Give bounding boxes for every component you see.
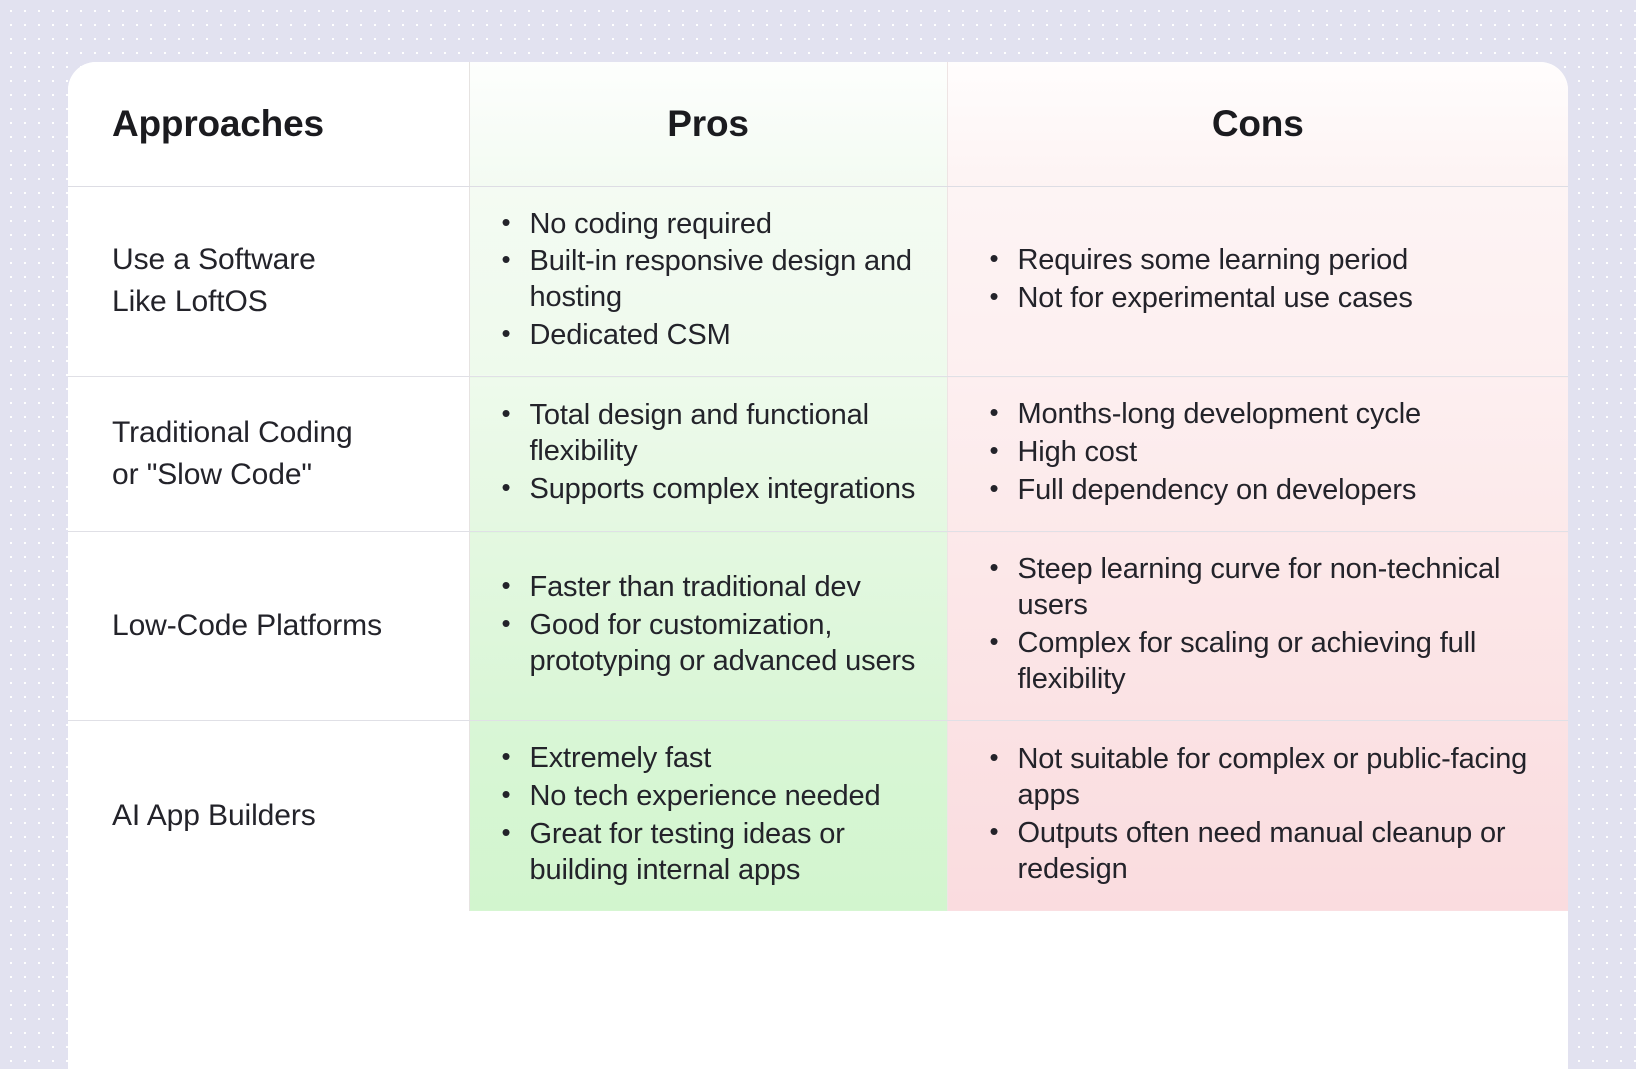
cons-cell: Steep learning curve for non-technical u… (947, 532, 1568, 721)
pros-cell: No coding required Built-in responsive d… (469, 186, 947, 377)
approach-line: Traditional Coding (112, 412, 449, 455)
table-row: Use a Software Like LoftOS No coding req… (68, 186, 1568, 377)
approach-line: Like LoftOS (112, 281, 449, 324)
table-row: Low-Code Platforms Faster than tradition… (68, 532, 1568, 721)
list-item: Outputs often need manual cleanup or red… (986, 816, 1545, 888)
pros-cell: Total design and functional flexibility … (469, 377, 947, 532)
list-item: Months-long development cycle (986, 397, 1545, 433)
comparison-card: Approaches Pros Cons Use a Software Like… (68, 62, 1568, 1069)
table-body: Use a Software Like LoftOS No coding req… (68, 186, 1568, 911)
pros-list: Extremely fast No tech experience needed… (498, 741, 923, 889)
approach-line: AI App Builders (112, 795, 449, 838)
column-header-approaches: Approaches (68, 62, 469, 186)
cons-cell: Requires some learning period Not for ex… (947, 186, 1568, 377)
list-item: Not suitable for complex or public-facin… (986, 742, 1545, 814)
cons-list: Steep learning curve for non-technical u… (986, 552, 1545, 698)
cons-list: Requires some learning period Not for ex… (986, 243, 1545, 317)
approach-cell: Traditional Coding or "Slow Code" (68, 377, 469, 532)
list-item: Supports complex integrations (498, 472, 923, 508)
table-row: AI App Builders Extremely fast No tech e… (68, 720, 1568, 910)
header-row: Approaches Pros Cons (68, 62, 1568, 186)
approach-cell: AI App Builders (68, 720, 469, 910)
pros-list: No coding required Built-in responsive d… (498, 207, 923, 355)
cons-cell: Months-long development cycle High cost … (947, 377, 1568, 532)
table-header: Approaches Pros Cons (68, 62, 1568, 186)
approach-line: or "Slow Code" (112, 454, 449, 497)
list-item: Faster than traditional dev (498, 570, 923, 606)
list-item: Steep learning curve for non-technical u… (986, 552, 1545, 624)
list-item: Complex for scaling or achieving full fl… (986, 626, 1545, 698)
table-row: Traditional Coding or "Slow Code" Total … (68, 377, 1568, 532)
comparison-table: Approaches Pros Cons Use a Software Like… (68, 62, 1568, 911)
list-item: No coding required (498, 207, 923, 243)
list-item: Total design and functional flexibility (498, 398, 923, 470)
list-item: Extremely fast (498, 741, 923, 777)
pros-list: Total design and functional flexibility … (498, 398, 923, 508)
list-item: Good for customization, prototyping or a… (498, 608, 923, 680)
pros-cell: Extremely fast No tech experience needed… (469, 720, 947, 910)
list-item: Not for experimental use cases (986, 281, 1545, 317)
approach-line: Low-Code Platforms (112, 605, 449, 648)
column-header-pros: Pros (469, 62, 947, 186)
pros-cell: Faster than traditional dev Good for cus… (469, 532, 947, 721)
list-item: Requires some learning period (986, 243, 1545, 279)
list-item: Great for testing ideas or building inte… (498, 817, 923, 889)
list-item: Dedicated CSM (498, 318, 923, 354)
cons-list: Not suitable for complex or public-facin… (986, 742, 1545, 888)
cons-cell: Not suitable for complex or public-facin… (947, 720, 1568, 910)
list-item: No tech experience needed (498, 779, 923, 815)
column-header-cons: Cons (947, 62, 1568, 186)
approach-cell: Use a Software Like LoftOS (68, 186, 469, 377)
list-item: Full dependency on developers (986, 473, 1545, 509)
list-item: Built-in responsive design and hosting (498, 244, 923, 316)
list-item: High cost (986, 435, 1545, 471)
pros-list: Faster than traditional dev Good for cus… (498, 570, 923, 680)
approach-line: Use a Software (112, 239, 449, 282)
cons-list: Months-long development cycle High cost … (986, 397, 1545, 509)
approach-cell: Low-Code Platforms (68, 532, 469, 721)
